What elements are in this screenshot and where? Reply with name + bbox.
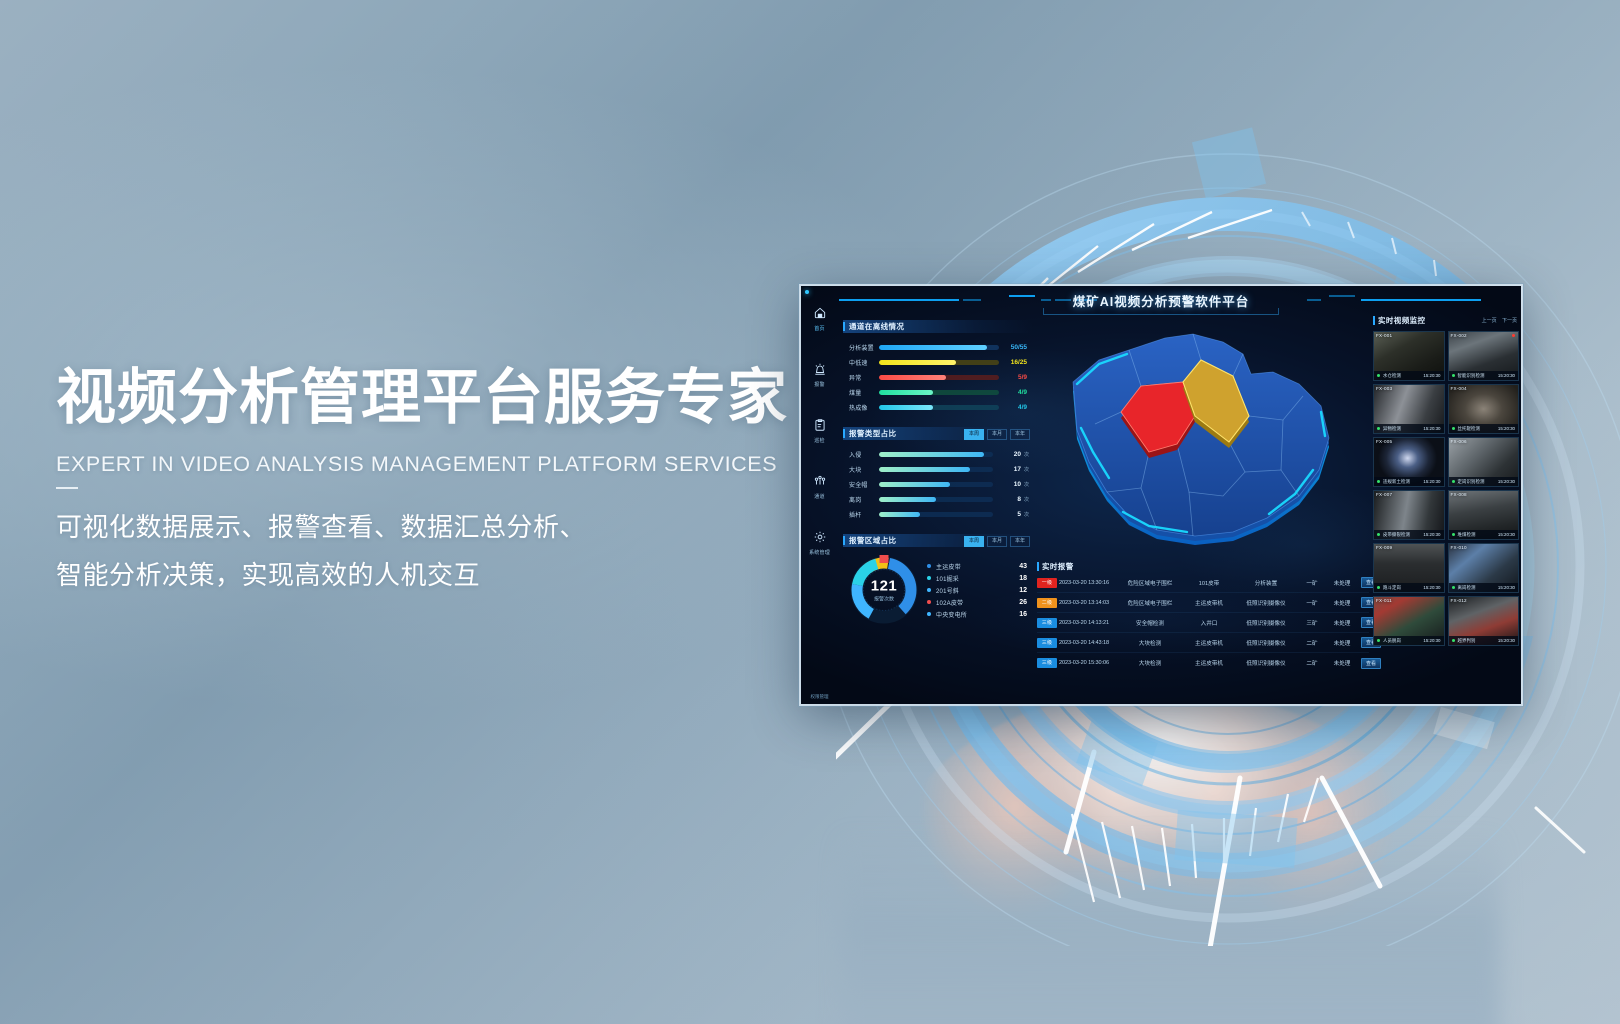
alarm-type-row-unit: 次 — [1024, 466, 1029, 473]
channel-row-track — [879, 390, 999, 395]
channel-status-rows: 分析装置 50/55 中低速 16/25 异常 — [843, 333, 1033, 421]
status-badge: 三级 — [1037, 638, 1057, 648]
alarm-type-row-unit: 次 — [1024, 511, 1029, 518]
video-tile[interactable]: FX-006 定岗识别检测 15:20:30 — [1448, 437, 1520, 487]
video-code: FX-008 — [1451, 492, 1467, 497]
video-time: 15:20:30 — [1498, 585, 1515, 590]
alarm-status: 未处理 — [1327, 619, 1357, 627]
alarm-type-row: 插杆 5 次 — [849, 507, 1029, 522]
status-badge: 二级 — [1037, 598, 1057, 608]
alarm-time: 2023-03-20 14:13:21 — [1059, 620, 1117, 626]
channel-row: 煤量 4/9 — [849, 385, 1029, 400]
sidebar-item-alarm[interactable]: 报警 — [801, 362, 838, 402]
video-name: 智能识别检测 — [1455, 373, 1498, 379]
video-time: 15:20:30 — [1423, 426, 1440, 431]
legend-value: 16 — [1019, 611, 1031, 618]
video-time: 15:20:30 — [1498, 373, 1515, 378]
video-footer: 皮带撕裂检测 15:20:30 — [1374, 530, 1444, 539]
header-title-frame — [1043, 308, 1279, 315]
channel-status-header: 通道在离线情况 — [843, 320, 1033, 333]
legend-row: 101掘采 18 — [927, 572, 1031, 584]
map-svg — [1037, 320, 1357, 570]
channel-row-value: 5/9 — [999, 374, 1029, 381]
video-time: 15:20:30 — [1498, 532, 1515, 537]
video-tile[interactable]: FX-012 越界判别 15:20:30 — [1448, 596, 1520, 646]
alarm-mine: 一矿 — [1297, 599, 1327, 607]
alarm-type-row-label: 离岗 — [849, 495, 879, 504]
alarm-type-row-fill — [879, 452, 984, 457]
channel-row-label: 煤量 — [849, 388, 879, 397]
video-tile[interactable]: FX-003 异物检测 15:20:30 — [1373, 384, 1445, 434]
table-row[interactable]: 三级 2023-03-20 14:13:21 安全帽检测 入井口 低照识别摄像仪… — [1037, 613, 1369, 633]
alarm-area-donut-chart: 121 报警次数 — [847, 553, 921, 627]
donut-total-value: 121 — [871, 578, 898, 595]
alarm-mine: 三矿 — [1297, 619, 1327, 627]
channel-row-fill — [879, 405, 933, 410]
sidebar-footer-label: 权限管理 — [801, 694, 838, 700]
legend-row: 主运皮带 43 — [927, 560, 1031, 572]
left-panel-column: 通道在离线情况 分析装置 50/55 中低速 — [843, 320, 1033, 637]
sidebar-item-home[interactable]: 首页 — [801, 306, 838, 346]
recording-indicator — [1512, 334, 1515, 337]
video-code: FX-007 — [1376, 492, 1392, 497]
alarm-type-rows: 入侵 20 次 大块 17 次 — [843, 440, 1033, 528]
dashboard-screen: 煤矿AI视频分析预警软件平台 首页 报警 — [801, 286, 1521, 704]
legend-label: 主运皮带 — [931, 562, 1019, 571]
alarm-level-badge: 三级 — [1037, 658, 1059, 668]
tab-month[interactable]: 本月 — [987, 429, 1007, 440]
video-tile[interactable]: FX-009 跑斗定岗 15:20:30 — [1373, 543, 1445, 593]
video-time: 15:20:30 — [1498, 638, 1515, 643]
legend-value: 43 — [1019, 563, 1031, 570]
header-accent-line-right — [1361, 299, 1481, 301]
sidebar-item-channel[interactable]: 通道 — [801, 474, 838, 514]
hero-description: 可视化数据展示、报警查看、数据汇总分析、 智能分析决策，实现高效的人机交互 — [56, 503, 816, 599]
alarm-type-row-value: 8 — [993, 496, 1023, 503]
video-tile[interactable]: FX-001 水仓检测 15:20:30 — [1373, 331, 1445, 381]
alarm-type-row: 离岗 8 次 — [849, 492, 1029, 507]
video-grid: FX-001 水仓检测 15:20:30 FX-002 智能识别检测 15:20… — [1373, 331, 1519, 646]
video-footer: 智能识别检测 15:20:30 — [1449, 371, 1519, 380]
tab-year[interactable]: 本年 — [1010, 429, 1030, 440]
video-name: 水仓检测 — [1380, 373, 1423, 379]
alarm-type-row-fill — [879, 512, 920, 517]
video-footer: 丝托辊检测 15:20:30 — [1449, 424, 1519, 433]
alarm-type-row-label: 安全帽 — [849, 480, 879, 489]
alarm-status: 未处理 — [1327, 639, 1357, 647]
channel-row-track — [879, 375, 999, 380]
legend-row: 201号斜 12 — [927, 584, 1031, 596]
alarm-type-row: 安全帽 10 次 — [849, 477, 1029, 492]
alarm-mine: 一矿 — [1297, 579, 1327, 587]
alarm-type-header: 报警类型占比 本周 本月 本年 — [843, 427, 1033, 440]
video-time: 15:20:30 — [1498, 426, 1515, 431]
channel-icon — [801, 474, 838, 490]
alarm-type-row-track — [879, 497, 993, 502]
video-footer: 水仓检测 15:20:30 — [1374, 371, 1444, 380]
alarm-device: 低照识别摄像仪 — [1235, 639, 1297, 647]
channel-row-label: 中低速 — [849, 358, 879, 367]
table-row[interactable]: 三级 2023-03-20 14:43:18 大块检测 主运皮带机 低照识别摄像… — [1037, 633, 1369, 653]
alarm-time: 2023-03-20 14:43:18 — [1059, 640, 1117, 646]
alarm-device: 低照识别摄像仪 — [1235, 659, 1297, 667]
alarm-time: 2023-03-20 13:30:16 — [1059, 580, 1117, 586]
video-code: FX-004 — [1451, 386, 1467, 391]
alarm-type-row-track — [879, 512, 993, 517]
channel-row-track — [879, 360, 999, 365]
alarm-mine: 二矿 — [1297, 659, 1327, 667]
channel-row-label: 分析装置 — [849, 343, 879, 352]
alarm-type-row-value: 5 — [993, 511, 1023, 518]
alarm-level-badge: 二级 — [1037, 598, 1059, 608]
alarm-device: 分析装置 — [1235, 579, 1297, 587]
channel-row-value: 4/9 — [999, 389, 1029, 396]
alarm-type-row-label: 插杆 — [849, 510, 879, 519]
alarm-type: 危险区域电子围栏 — [1117, 579, 1183, 587]
alarm-time: 2023-03-20 15:30:06 — [1059, 660, 1117, 666]
channel-row: 异常 5/9 — [849, 370, 1029, 385]
channel-row-value: 50/55 — [999, 344, 1029, 351]
channel-row: 中低速 16/25 — [849, 355, 1029, 370]
legend-value: 12 — [1019, 587, 1031, 594]
channel-row-label: 异常 — [849, 373, 879, 382]
alarm-area-panel: 报警区域占比 本周 本月 本年 — [843, 534, 1033, 631]
alarm-type-row-value: 17 — [993, 466, 1023, 473]
alarm-location: 入井口 — [1183, 619, 1235, 627]
video-panel-header: 实时视频监控 上一页 下一页 — [1373, 314, 1519, 327]
video-code: FX-011 — [1376, 598, 1392, 603]
video-time: 15:20:30 — [1423, 585, 1440, 590]
panel-accent-bar — [843, 429, 845, 438]
table-row[interactable]: 一级 2023-03-20 13:30:16 危险区域电子围栏 101皮带 分析… — [1037, 573, 1369, 593]
video-name: 违规新土检测 — [1380, 479, 1423, 485]
video-pagination[interactable]: 上一页 下一页 — [1478, 317, 1517, 324]
video-footer: 违规新土检测 15:20:30 — [1374, 477, 1444, 486]
video-code: FX-012 — [1451, 598, 1467, 603]
sidebar-item-channel-label: 通道 — [801, 493, 838, 500]
sidebar-nav[interactable]: 首页 报警 巡检 通道 — [801, 306, 838, 704]
video-code: FX-002 — [1451, 333, 1467, 338]
panel-accent-bar — [1373, 316, 1375, 325]
header-status-dot — [805, 290, 809, 294]
hero-desc-line-1: 可视化数据展示、报警查看、数据汇总分析、 — [56, 503, 816, 551]
alarm-type-row-track — [879, 452, 993, 457]
video-name: 离岗检测 — [1455, 585, 1498, 591]
alarm-level-badge: 三级 — [1037, 618, 1059, 628]
channel-status-title: 通道在离线情况 — [849, 321, 904, 332]
page-title: 视频分析管理平台服务专家 — [56, 364, 816, 432]
video-time: 15:20:30 — [1423, 479, 1440, 484]
hero-desc-line-2: 智能分析决策，实现高效的人机交互 — [56, 551, 816, 599]
alarm-type-row-track — [879, 482, 993, 487]
video-name: 定岗识别检测 — [1455, 479, 1498, 485]
channel-row: 热成像 4/9 — [849, 400, 1029, 415]
alarm-area-body: 121 报警次数 主运皮带 43 101掘采 18 — [843, 547, 1033, 631]
status-badge: 三级 — [1037, 618, 1057, 628]
tab-month[interactable]: 本月 — [987, 536, 1007, 547]
alarm-area-header: 报警区域占比 本周 本月 本年 — [843, 534, 1033, 547]
video-footer: 越界判别 15:20:30 — [1449, 636, 1519, 645]
video-code: FX-003 — [1376, 386, 1392, 391]
video-time: 15:20:30 — [1423, 638, 1440, 643]
channel-row-value: 16/25 — [999, 359, 1029, 366]
video-footer: 堆煤检测 15:20:30 — [1449, 530, 1519, 539]
realtime-alarm-header: 实时报警 — [1037, 560, 1369, 573]
tab-year[interactable]: 本年 — [1010, 536, 1030, 547]
alarm-area-title: 报警区域占比 — [849, 535, 896, 546]
alarm-mine: 二矿 — [1297, 639, 1327, 647]
video-name: 越界判别 — [1455, 638, 1498, 644]
channel-row-label: 热成像 — [849, 403, 879, 412]
alarm-type-row-track — [879, 467, 993, 472]
video-name: 皮带撕裂检测 — [1380, 532, 1423, 538]
video-code: FX-010 — [1451, 545, 1467, 550]
alarm-level-badge: 三级 — [1037, 638, 1059, 648]
gear-icon — [801, 530, 838, 546]
alarm-location: 主运皮带机 — [1183, 659, 1235, 667]
alarm-device: 低照识别摄像仪 — [1235, 619, 1297, 627]
home-icon — [801, 306, 838, 322]
video-tile[interactable]: FX-002 智能识别检测 15:20:30 — [1448, 331, 1520, 381]
realtime-alarm-panel: 实时报警 一级 2023-03-20 13:30:16 危险区域电子围栏 101… — [1037, 560, 1369, 673]
alarm-type-row-unit: 次 — [1024, 481, 1029, 488]
video-time: 15:20:30 — [1498, 479, 1515, 484]
donut-center: 121 报警次数 — [871, 578, 898, 603]
channel-row-fill — [879, 345, 987, 350]
view-button-label: 查看 — [1361, 658, 1381, 669]
clipboard-icon — [801, 418, 838, 434]
alarm-type: 安全帽检测 — [1117, 619, 1183, 627]
channel-status-panel: 通道在离线情况 分析装置 50/55 中低速 — [843, 320, 1033, 421]
alarm-type-panel: 报警类型占比 本周 本月 本年 入侵 20 次 — [843, 427, 1033, 528]
alarm-type-row-value: 20 — [993, 451, 1023, 458]
alarm-icon — [801, 362, 838, 378]
prev-page-button[interactable]: 上一页 — [1482, 318, 1497, 324]
tab-week[interactable]: 本周 — [964, 536, 984, 547]
table-row[interactable]: 二级 2023-03-20 13:14:03 危险区域电子围栏 主运皮带机 低照… — [1037, 593, 1369, 613]
channel-row: 分析装置 50/55 — [849, 340, 1029, 355]
video-tile[interactable]: FX-007 皮带撕裂检测 15:20:30 — [1373, 490, 1445, 540]
dashboard-header: 煤矿AI视频分析预警软件平台 — [801, 286, 1521, 316]
video-footer: 人员脱岗 15:20:30 — [1374, 636, 1444, 645]
video-time: 15:20:30 — [1423, 373, 1440, 378]
sidebar-item-inspection[interactable]: 巡检 — [801, 418, 838, 458]
alarm-type-row-value: 10 — [993, 481, 1023, 488]
realtime-alarm-title: 实时报警 — [1042, 561, 1074, 572]
alarm-level-badge: 一级 — [1037, 578, 1059, 588]
hero-section: 视频分析管理平台服务专家 EXPERT IN VIDEO ANALYSIS MA… — [56, 364, 816, 600]
hero-subtitle: EXPERT IN VIDEO ANALYSIS MANAGEMENT PLAT… — [56, 452, 816, 477]
next-page-button[interactable]: 下一页 — [1502, 318, 1517, 324]
video-time: 15:20:30 — [1423, 532, 1440, 537]
alarm-view-button[interactable]: 查看 — [1357, 658, 1385, 669]
alarm-type: 大块检测 — [1117, 639, 1183, 647]
sidebar-item-alarm-label: 报警 — [801, 381, 838, 388]
sidebar-item-system-label: 系统管理 — [801, 549, 838, 556]
alarm-type: 大块检测 — [1117, 659, 1183, 667]
legend-value: 18 — [1019, 575, 1031, 582]
legend-label: 102A皮带 — [931, 598, 1019, 607]
legend-row: 102A皮带 26 — [927, 596, 1031, 608]
video-panel-title: 实时视频监控 — [1378, 315, 1425, 326]
video-code: FX-005 — [1376, 439, 1392, 444]
sidebar-item-system[interactable]: 系统管理 — [801, 530, 838, 570]
video-monitor-panel: 实时视频监控 上一页 下一页 FX-001 水仓检测 15:20:30 — [1373, 314, 1519, 646]
video-tile[interactable]: FX-010 离岗检测 15:20:30 — [1448, 543, 1520, 593]
alarm-type-title: 报警类型占比 — [849, 428, 896, 439]
header-accent-dash-6 — [1329, 295, 1355, 297]
video-tile[interactable]: FX-008 堆煤检测 15:20:30 — [1448, 490, 1520, 540]
alarm-status: 未处理 — [1327, 579, 1357, 587]
video-name: 人员脱岗 — [1380, 638, 1423, 644]
sidebar-item-inspection-label: 巡检 — [801, 437, 838, 444]
panel-accent-bar — [1037, 562, 1039, 571]
alarm-type-row-fill — [879, 497, 936, 502]
video-tile[interactable]: FX-011 人员脱岗 15:20:30 — [1373, 596, 1445, 646]
video-footer: 离岗检测 15:20:30 — [1449, 583, 1519, 592]
alarm-area-tabs[interactable]: 本周 本月 本年 — [964, 536, 1030, 547]
alarm-type-tabs[interactable]: 本周 本月 本年 — [964, 429, 1030, 440]
alarm-type-row-label: 大块 — [849, 465, 879, 474]
donut-total-caption: 报警次数 — [871, 596, 898, 603]
video-code: FX-006 — [1451, 439, 1467, 444]
alarm-type-row-label: 入侵 — [849, 450, 879, 459]
video-name: 跑斗定岗 — [1380, 585, 1423, 591]
legend-label: 201号斜 — [931, 586, 1019, 595]
legend-label: 101掘采 — [931, 574, 1019, 583]
alarm-status: 未处理 — [1327, 599, 1357, 607]
alarm-type-row: 大块 17 次 — [849, 462, 1029, 477]
alarm-type-row-unit: 次 — [1024, 451, 1029, 458]
table-row[interactable]: 三级 2023-03-20 15:30:06 大块检测 主运皮带机 低照识别摄像… — [1037, 653, 1369, 673]
video-footer: 跑斗定岗 15:20:30 — [1374, 583, 1444, 592]
video-tile[interactable]: FX-005 违规新土检测 15:20:30 — [1373, 437, 1445, 487]
sidebar-item-home-label: 首页 — [801, 325, 838, 332]
hero-divider — [56, 487, 78, 489]
video-code: FX-001 — [1376, 333, 1392, 338]
legend-label: 中央变电所 — [931, 610, 1019, 619]
alarm-time: 2023-03-20 13:14:03 — [1059, 600, 1117, 606]
video-footer: 异物检测 15:20:30 — [1374, 424, 1444, 433]
channel-row-value: 4/9 — [999, 404, 1029, 411]
channel-row-track — [879, 405, 999, 410]
alarm-type: 危险区域电子围栏 — [1117, 599, 1183, 607]
video-name: 丝托辊检测 — [1455, 426, 1498, 432]
video-name: 异物检测 — [1380, 426, 1423, 432]
header-accent-dash-7 — [1307, 299, 1321, 301]
alarm-status: 未处理 — [1327, 659, 1357, 667]
video-footer: 定岗识别检测 15:20:30 — [1449, 477, 1519, 486]
video-name: 堆煤检测 — [1455, 532, 1498, 538]
status-badge: 一级 — [1037, 578, 1057, 588]
legend-value: 26 — [1019, 599, 1031, 606]
status-badge: 三级 — [1037, 658, 1057, 668]
dashboard-monitor: 煤矿AI视频分析预警软件平台 首页 报警 — [801, 286, 1521, 704]
alarm-location: 101皮带 — [1183, 579, 1235, 587]
alarm-location: 主运皮带机 — [1183, 599, 1235, 607]
channel-row-fill — [879, 375, 946, 380]
channel-row-fill — [879, 390, 933, 395]
alarm-type-row-fill — [879, 482, 950, 487]
video-tile[interactable]: FX-004 丝托辊检测 15:20:30 — [1448, 384, 1520, 434]
alarm-device: 低照识别摄像仪 — [1235, 599, 1297, 607]
channel-row-track — [879, 345, 999, 350]
video-code: FX-009 — [1376, 545, 1392, 550]
alarm-type-row-fill — [879, 467, 970, 472]
alarm-location: 主运皮带机 — [1183, 639, 1235, 647]
alarm-area-legend: 主运皮带 43 101掘采 18 201号斜 12 — [921, 560, 1031, 620]
panel-accent-bar — [843, 536, 845, 545]
alarm-type-row: 入侵 20 次 — [849, 447, 1029, 462]
panel-accent-bar — [843, 322, 845, 331]
alarm-type-row-unit: 次 — [1024, 496, 1029, 503]
channel-row-fill — [879, 360, 956, 365]
province-map[interactable] — [1037, 320, 1357, 570]
hand-fade-overlay — [840, 830, 1500, 1024]
legend-row: 中央变电所 16 — [927, 608, 1031, 620]
tab-week[interactable]: 本周 — [964, 429, 984, 440]
